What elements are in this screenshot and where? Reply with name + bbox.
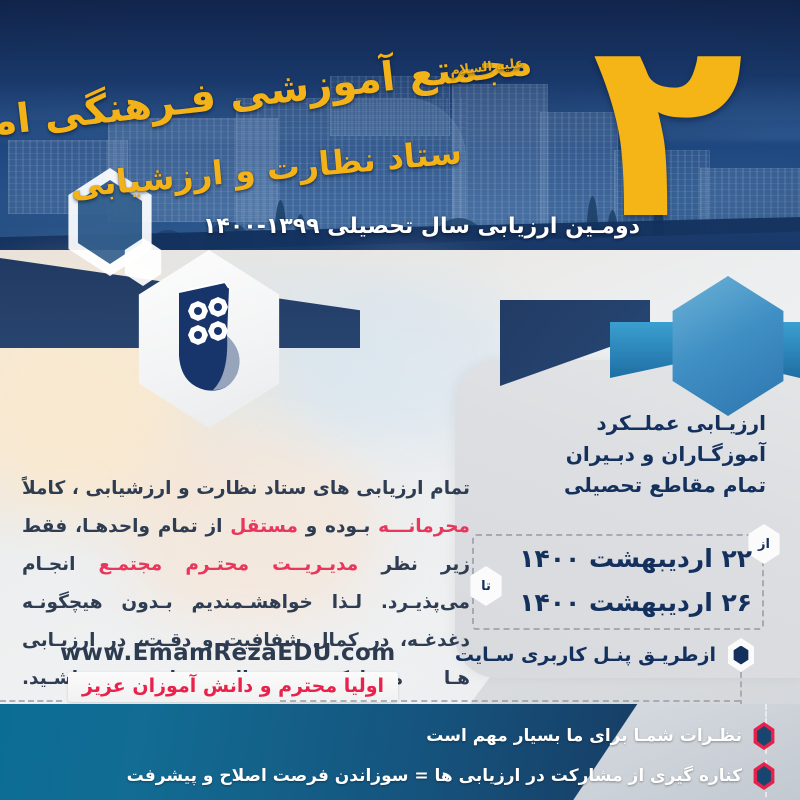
scope-line-1: ارزیـابی عملــکرد <box>466 408 766 439</box>
hexagon-bullet-icon <box>752 722 776 750</box>
scope-line-3: تمام مقاطع تحصیلی <box>466 470 766 501</box>
dashed-rule-left <box>0 700 62 702</box>
paragraph-highlight-management: مدیـریــت محتـرم مجتمـع <box>99 554 359 575</box>
dashed-connector <box>740 672 742 706</box>
paragraph-part-2: بـوده و <box>298 516 378 537</box>
date-to-value: ۲۶ اردیبهشت ۱۴۰۰ <box>519 588 752 617</box>
bottom-message-row: نظـرات شمـا برای ما بسیار مهم است <box>426 722 776 750</box>
website-url[interactable]: www.EmamRezaEDU.com <box>60 640 390 666</box>
paragraph-highlight-confidential: محرمانـــه <box>378 516 470 537</box>
date-from-value: ۲۲ اردیبهشت ۱۴۰۰ <box>519 544 752 573</box>
poster-root: مجمتع آموزشی فـرهنگی امام رضـا علیه السل… <box>0 0 800 800</box>
scope-line-2: آموزگـاران و دبـیران <box>466 439 766 470</box>
parents-students-banner: اولیا محترم و دانش آموزان عزیز <box>68 672 398 702</box>
hexagon-bullet-icon <box>752 762 776 790</box>
dashed-rule-right <box>280 700 740 702</box>
poster-subtitle: دومـین ارزیابی سال تحصیلی ۱۳۹۹-۱۴۰۰ <box>203 214 640 239</box>
dashed-connector <box>765 792 767 800</box>
bottom-message-bar: نظـرات شمـا برای ما بسیار مهم است کناره … <box>0 704 800 800</box>
dashed-connector <box>765 704 767 724</box>
bottom-message-text-2: کناره گیری از مشارکت در ارزیابی ها = سوز… <box>127 766 742 786</box>
site-access-bullet-core <box>733 646 750 665</box>
bottom-message-text-1: نظـرات شمـا برای ما بسیار مهم است <box>426 726 742 746</box>
paragraph-highlight-independent: مستقل <box>230 516 298 537</box>
site-access-note: ازطریـق پنـل کاربری سـایت <box>455 644 716 666</box>
evaluation-scope-heading: ارزیـابی عملــکرد آموزگـاران و دبـیران ت… <box>466 408 766 501</box>
paragraph-part-1: تمام ارزیابی های ستاد نظارت و ارزشیابی ،… <box>22 478 470 499</box>
emam-reza-shield-flame-icon <box>171 278 249 396</box>
bottom-message-row: کناره گیری از مشارکت در ارزیابی ها = سوز… <box>127 762 776 790</box>
